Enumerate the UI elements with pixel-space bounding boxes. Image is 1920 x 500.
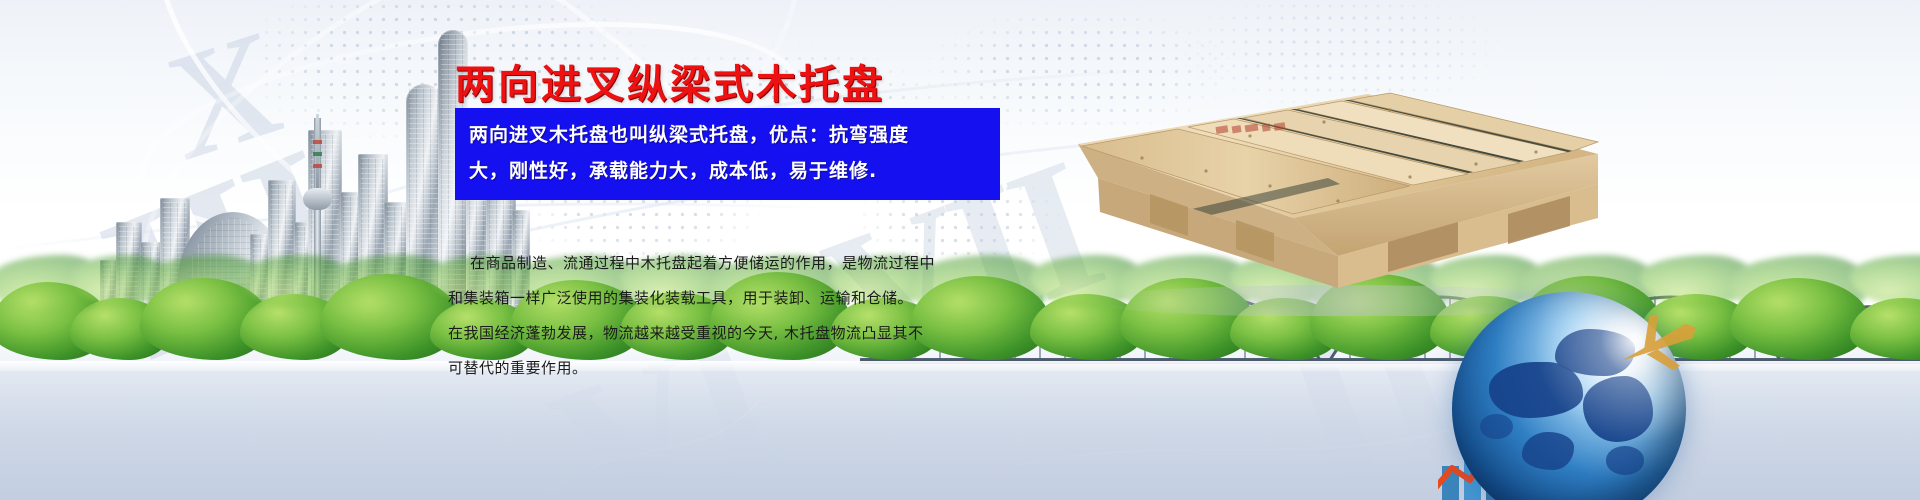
description-line-1: 在商品制造、流通过程中木托盘起着方便储运的作用，是物流过程中 — [448, 246, 1098, 281]
description-text: 在商品制造、流通过程中木托盘起着方便储运的作用，是物流过程中 和集装箱一样广泛使… — [448, 246, 1098, 386]
highlight-line-2: 大，刚性好，承载能力大，成本低，易于维修. — [469, 153, 986, 189]
highlight-line-1: 两向进叉木托盘也叫纵梁式托盘，优点：抗弯强度 — [469, 117, 986, 153]
page-title: 两向进叉纵梁式木托盘 — [455, 52, 885, 110]
description-line-2: 和集装箱一样广泛使用的集装化装载工具，用于装卸、运输和仓储。 — [448, 281, 1098, 316]
highlight-callout-box: 两向进叉木托盘也叫纵梁式托盘，优点：抗弯强度 大，刚性好，承载能力大，成本低，易… — [455, 108, 1000, 200]
description-line-3: 在我国经济蓬勃发展，物流越来越受重视的今天, 木托盘物流凸显其不 — [448, 316, 1098, 351]
airplane-icon — [1600, 300, 1720, 390]
description-line-4: 可替代的重要作用。 — [448, 351, 1098, 386]
wooden-pallet-photo — [1038, 66, 1608, 316]
product-banner: X III VII II VI — [0, 0, 1920, 500]
